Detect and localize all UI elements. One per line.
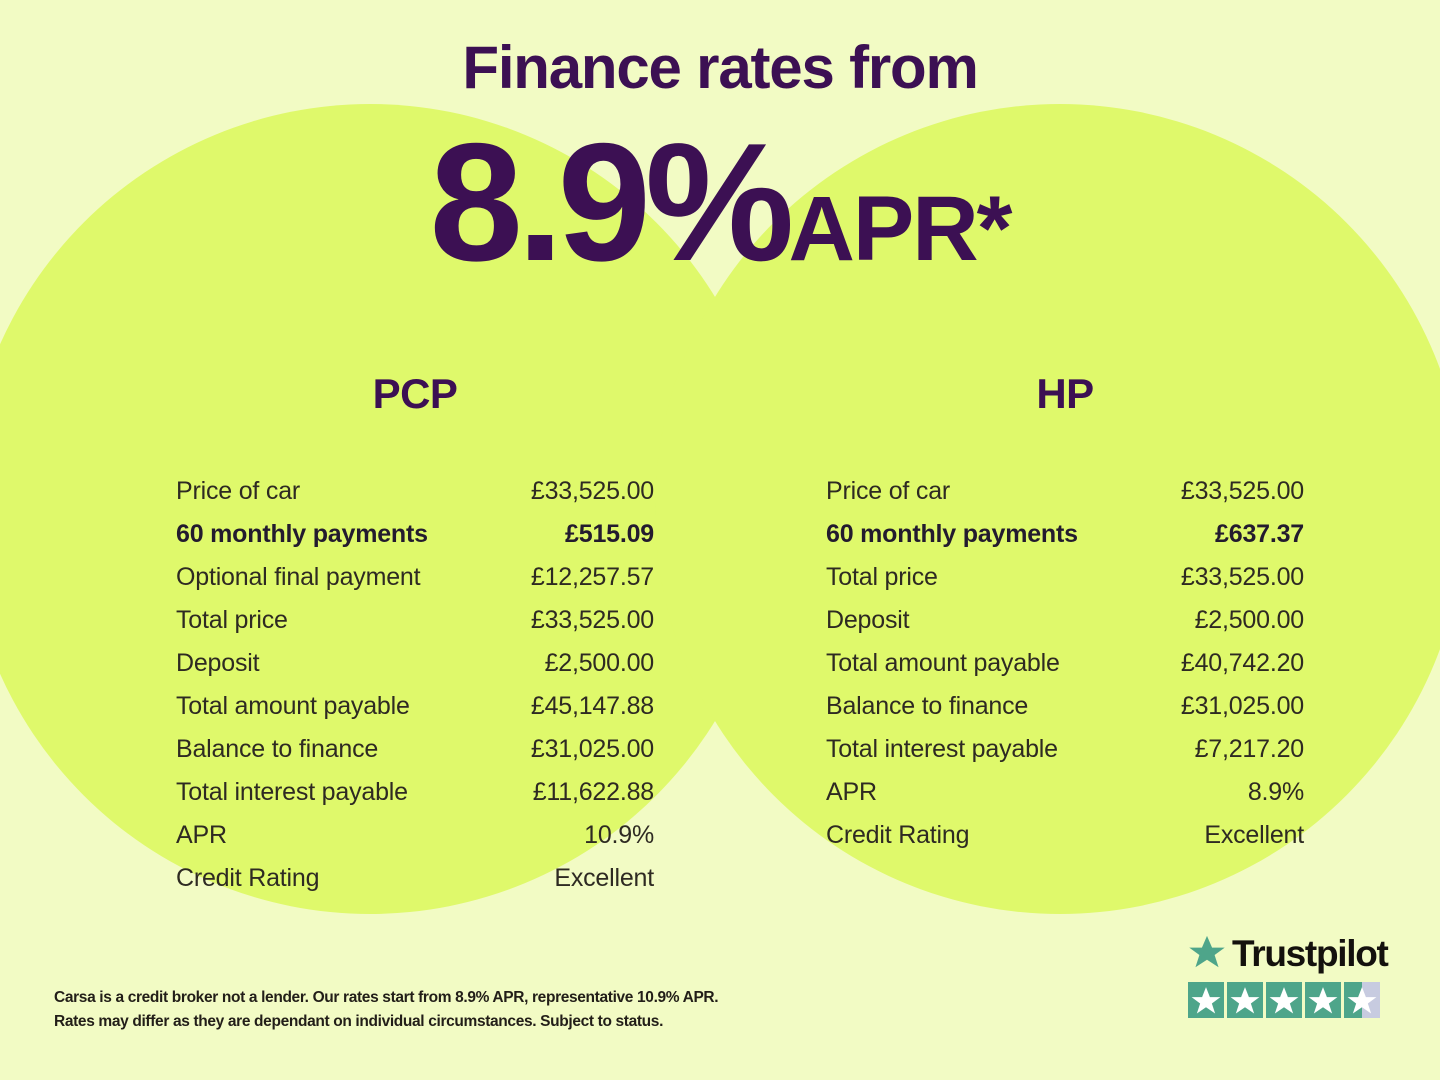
row-label: APR (176, 814, 227, 857)
star-icon (1344, 982, 1380, 1018)
row-value: Excellent (1204, 814, 1304, 857)
table-row: 60 monthly payments£515.09 (176, 513, 654, 556)
disclaimer-line-2: Rates may differ as they are dependant o… (54, 1010, 814, 1034)
table-row: Credit RatingExcellent (176, 857, 654, 900)
trustpilot-star-full (1266, 982, 1302, 1018)
table-row: Price of car£33,525.00 (176, 470, 654, 513)
row-label: Price of car (176, 470, 300, 513)
row-value: Excellent (554, 857, 654, 900)
trustpilot-star-full (1305, 982, 1341, 1018)
page-title: Finance rates from (0, 38, 1440, 98)
column-title-hp: HP (826, 370, 1304, 418)
row-value: £515.09 (565, 513, 654, 556)
table-row: Deposit£2,500.00 (176, 642, 654, 685)
table-row: 60 monthly payments£637.37 (826, 513, 1304, 556)
row-value: £7,217.20 (1195, 728, 1304, 771)
row-label: Credit Rating (826, 814, 969, 857)
row-value: 8.9% (1248, 771, 1304, 814)
row-label: Credit Rating (176, 857, 319, 900)
row-value: £31,025.00 (1181, 685, 1304, 728)
row-value: £33,525.00 (1181, 470, 1304, 513)
row-label: Total price (826, 556, 938, 599)
trustpilot-star-icon (1188, 934, 1226, 972)
row-label: 60 monthly payments (176, 513, 428, 556)
row-value: 10.9% (584, 814, 654, 857)
star-icon (1305, 982, 1341, 1018)
finance-table-hp: HP Price of car£33,525.0060 monthly paym… (826, 370, 1304, 857)
table-row: Balance to finance£31,025.00 (826, 685, 1304, 728)
table-row: APR8.9% (826, 771, 1304, 814)
table-row: Balance to finance£31,025.00 (176, 728, 654, 771)
row-value: £2,500.00 (1195, 599, 1304, 642)
trustpilot-star-full (1188, 982, 1224, 1018)
table-rows-pcp: Price of car£33,525.0060 monthly payment… (176, 470, 654, 900)
row-value: £31,025.00 (531, 728, 654, 771)
table-row: Price of car£33,525.00 (826, 470, 1304, 513)
row-value: £637.37 (1215, 513, 1304, 556)
trustpilot-star-half (1344, 982, 1380, 1018)
row-value: £45,147.88 (531, 685, 654, 728)
row-label: 60 monthly payments (826, 513, 1078, 556)
disclaimer: Carsa is a credit broker not a lender. O… (54, 986, 814, 1034)
table-row: Total interest payable£11,622.88 (176, 771, 654, 814)
row-label: Optional final payment (176, 556, 420, 599)
row-label: Total price (176, 599, 288, 642)
table-row: Optional final payment£12,257.57 (176, 556, 654, 599)
table-row: Total amount payable£40,742.20 (826, 642, 1304, 685)
row-label: Total interest payable (826, 728, 1058, 771)
row-label: Total amount payable (826, 642, 1060, 685)
row-label: Price of car (826, 470, 950, 513)
row-label: Balance to finance (176, 728, 378, 771)
trustpilot-rating-stars (1188, 982, 1388, 1018)
row-label: Total amount payable (176, 685, 410, 728)
row-value: £2,500.00 (545, 642, 654, 685)
finance-table-pcp: PCP Price of car£33,525.0060 monthly pay… (176, 370, 654, 900)
trustpilot-wordmark: Trustpilot (1232, 935, 1388, 972)
apr-value: 8.9% (430, 108, 789, 296)
row-label: Total interest payable (176, 771, 408, 814)
table-row: APR10.9% (176, 814, 654, 857)
table-row: Total price£33,525.00 (176, 599, 654, 642)
star-icon (1227, 982, 1263, 1018)
column-title-pcp: PCP (176, 370, 654, 418)
disclaimer-line-1: Carsa is a credit broker not a lender. O… (54, 986, 814, 1010)
trustpilot-logo: Trustpilot (1188, 930, 1388, 976)
table-row: Total price£33,525.00 (826, 556, 1304, 599)
row-value: £12,257.57 (531, 556, 654, 599)
row-label: Deposit (826, 599, 909, 642)
row-value: £33,525.00 (1181, 556, 1304, 599)
table-row: Total amount payable£45,147.88 (176, 685, 654, 728)
trustpilot-badge[interactable]: Trustpilot (1188, 930, 1388, 1018)
trustpilot-star-full (1227, 982, 1263, 1018)
finance-rates-card: Finance rates from 8.9%APR* PCP Price of… (0, 0, 1440, 1080)
table-row: Credit RatingExcellent (826, 814, 1304, 857)
row-value: £11,622.88 (533, 771, 654, 814)
star-icon (1266, 982, 1302, 1018)
table-row: Deposit£2,500.00 (826, 599, 1304, 642)
row-label: Balance to finance (826, 685, 1028, 728)
star-icon (1188, 982, 1224, 1018)
row-value: £33,525.00 (531, 470, 654, 513)
row-value: £40,742.20 (1181, 642, 1304, 685)
apr-headline: 8.9%APR* (0, 118, 1440, 286)
row-label: APR (826, 771, 877, 814)
table-rows-hp: Price of car£33,525.0060 monthly payment… (826, 470, 1304, 857)
row-value: £33,525.00 (531, 599, 654, 642)
apr-suffix: APR* (788, 178, 1010, 280)
row-label: Deposit (176, 642, 259, 685)
table-row: Total interest payable£7,217.20 (826, 728, 1304, 771)
